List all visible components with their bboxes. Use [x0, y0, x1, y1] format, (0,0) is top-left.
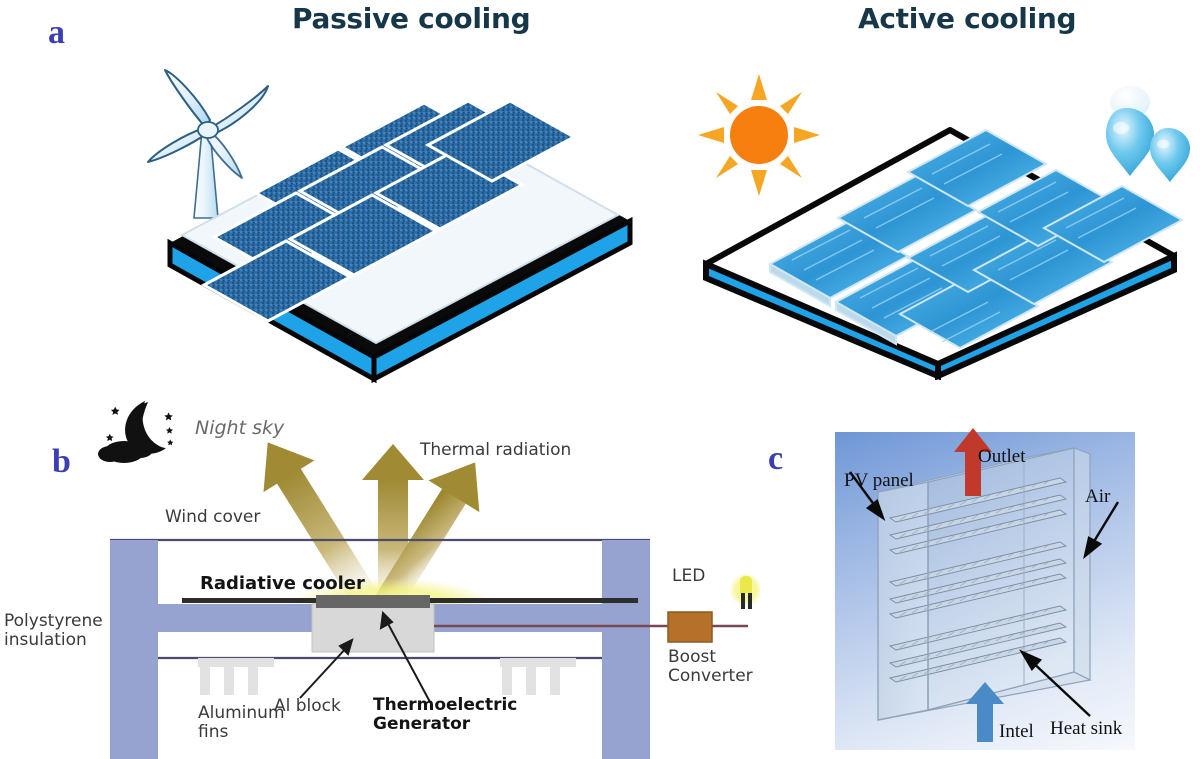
thermoelectric-generator-label: Thermoelectric Generator: [373, 696, 517, 734]
teg-line1: Thermoelectric: [373, 696, 517, 715]
inlet-label: Intel: [999, 721, 1034, 743]
boost-converter-line2: Converter: [668, 667, 753, 686]
air-label: Air: [1085, 486, 1110, 508]
solar-pv-module-passive: [130, 55, 650, 385]
water-droplets-icon: [1092, 84, 1198, 196]
polystyrene-insulation-line2: insulation: [4, 631, 103, 650]
aluminum-fins-label: Aluminum fins: [198, 704, 285, 742]
al-block-label: Al block: [274, 697, 341, 716]
aluminum-fins-line1: Aluminum: [198, 704, 285, 723]
panel-a: a Passive cooling Active cooling: [0, 0, 1200, 385]
radiative-cooler-label: Radiative cooler: [200, 574, 365, 594]
polystyrene-insulation-line1: Polystyrene: [4, 612, 103, 631]
panel-b: b Night sky: [0, 390, 760, 759]
panel-a-title-active: Active cooling: [858, 2, 1076, 35]
heat-sink-label: Heat sink: [1050, 718, 1122, 740]
panel-c: c: [760, 390, 1200, 759]
outlet-label: Outlet: [978, 446, 1026, 468]
figure-root: a Passive cooling Active cooling: [0, 0, 1200, 759]
teg-line2: Generator: [373, 715, 517, 734]
boost-converter-label: Boost Converter: [668, 648, 753, 686]
panel-a-title-passive: Passive cooling: [292, 2, 530, 35]
wind-cover-label: Wind cover: [165, 508, 260, 527]
aluminum-fins-line2: fins: [198, 723, 285, 742]
led-label: LED: [672, 567, 705, 586]
panel-a-letter: a: [48, 16, 65, 50]
boost-converter-line1: Boost: [668, 648, 753, 667]
pv-panel-label: PV panel: [844, 470, 914, 492]
polystyrene-insulation-label: Polystyrene insulation: [4, 612, 103, 650]
thermal-radiation-label: Thermal radiation: [420, 441, 571, 460]
